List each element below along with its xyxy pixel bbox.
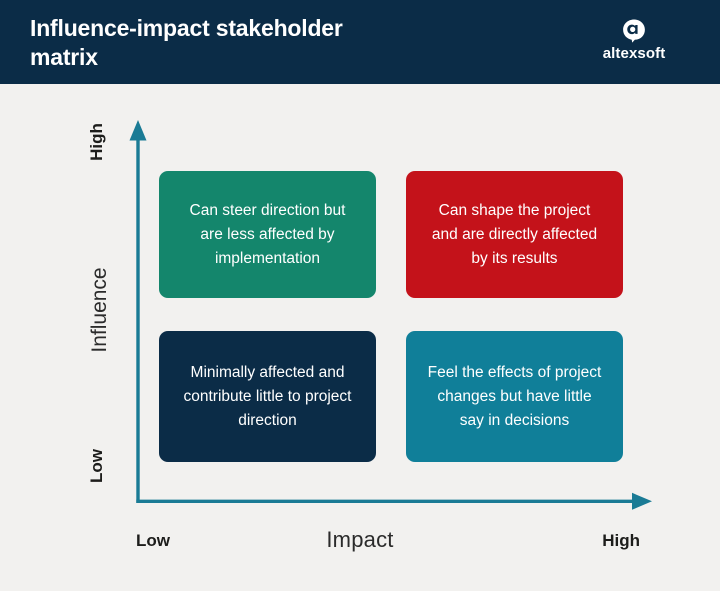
quadrant-text: Minimally affected and contribute little… [177,361,358,433]
infographic-root: Influence-impact stakeholder matrix alte… [0,0,720,591]
quadrant-card-top-right[interactable]: Can shape the project and are directly a… [406,171,623,298]
brand-logo: altexsoft [574,18,694,70]
quadrant-card-top-left[interactable]: Can steer direction but are less affecte… [159,171,376,298]
y-axis-low-label: Low [87,426,107,506]
quadrant-text: Can steer direction but are less affecte… [177,199,358,271]
y-axis-title: Influence [89,245,111,375]
brand-name-label: altexsoft [574,45,694,62]
quadrant-text: Can shape the project and are directly a… [424,199,605,271]
page-title: Influence-impact stakeholder matrix [30,14,460,72]
header-bar: Influence-impact stakeholder matrix alte… [0,0,720,84]
matrix-canvas: High Influence Low Low Impact High Can s… [0,84,720,591]
quadrant-card-bottom-left[interactable]: Minimally affected and contribute little… [159,331,376,462]
x-axis-arrowhead [632,493,652,510]
y-axis-arrowhead [130,120,147,141]
quadrant-text: Feel the effects of project changes but … [424,361,605,433]
altexsoft-logo-icon [621,18,647,44]
x-axis-high-label: High [602,531,640,551]
y-axis-high-label: High [87,102,107,182]
quadrant-card-bottom-right[interactable]: Feel the effects of project changes but … [406,331,623,462]
y-axis-labels: High Influence Low [0,84,130,591]
